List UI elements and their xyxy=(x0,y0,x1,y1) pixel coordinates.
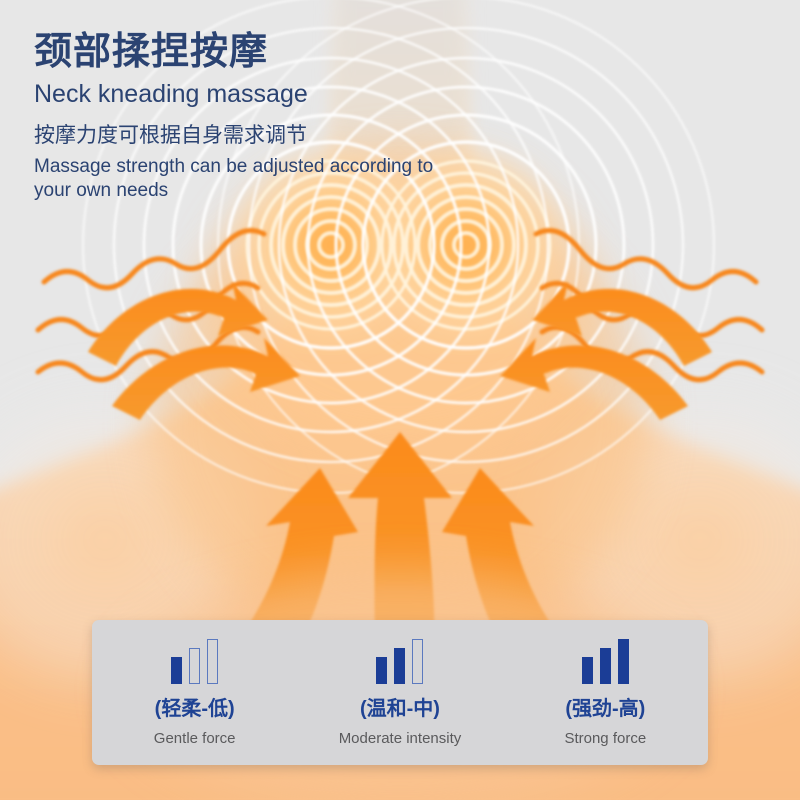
intensity-label-en-medium: Moderate intensity xyxy=(339,730,462,748)
intensity-level-medium[interactable]: (温和-中) Moderate intensity xyxy=(300,638,500,748)
intensity-label-cn-low: (轻柔-低) xyxy=(155,697,235,721)
signal-bars-high-icon xyxy=(582,638,629,684)
bar-1 xyxy=(582,657,593,684)
bar-3 xyxy=(412,639,423,684)
subtitle-cn: 按摩力度可根据自身需求调节 xyxy=(34,123,504,149)
bar-3 xyxy=(618,639,629,684)
signal-bars-medium-icon xyxy=(376,638,423,684)
intensity-label-cn-high: (强劲-高) xyxy=(565,697,645,721)
intensity-panel: (轻柔-低) Gentle force (温和-中) Moderate inte… xyxy=(92,620,708,765)
signal-bars-low-icon xyxy=(171,638,218,684)
intensity-label-cn-medium: (温和-中) xyxy=(360,697,440,721)
intensity-label-en-high: Strong force xyxy=(564,730,646,748)
heading-block: 颈部揉捏按摩 Neck kneading massage 按摩力度可根据自身需求… xyxy=(34,30,504,204)
product-poster: 颈部揉捏按摩 Neck kneading massage 按摩力度可根据自身需求… xyxy=(0,0,800,800)
bar-2 xyxy=(394,648,405,684)
intensity-level-low[interactable]: (轻柔-低) Gentle force xyxy=(95,638,295,748)
page-title-cn: 颈部揉捏按摩 xyxy=(34,30,504,75)
bar-1 xyxy=(376,657,387,684)
bar-1 xyxy=(171,657,182,684)
intensity-level-high[interactable]: (强劲-高) Strong force xyxy=(505,638,705,748)
intensity-label-en-low: Gentle force xyxy=(154,730,236,748)
bar-2 xyxy=(189,648,200,684)
subtitle-en: Massage strength can be adjusted accordi… xyxy=(34,155,474,204)
bar-3 xyxy=(207,639,218,684)
bar-2 xyxy=(600,648,611,684)
page-title-en: Neck kneading massage xyxy=(34,79,504,109)
